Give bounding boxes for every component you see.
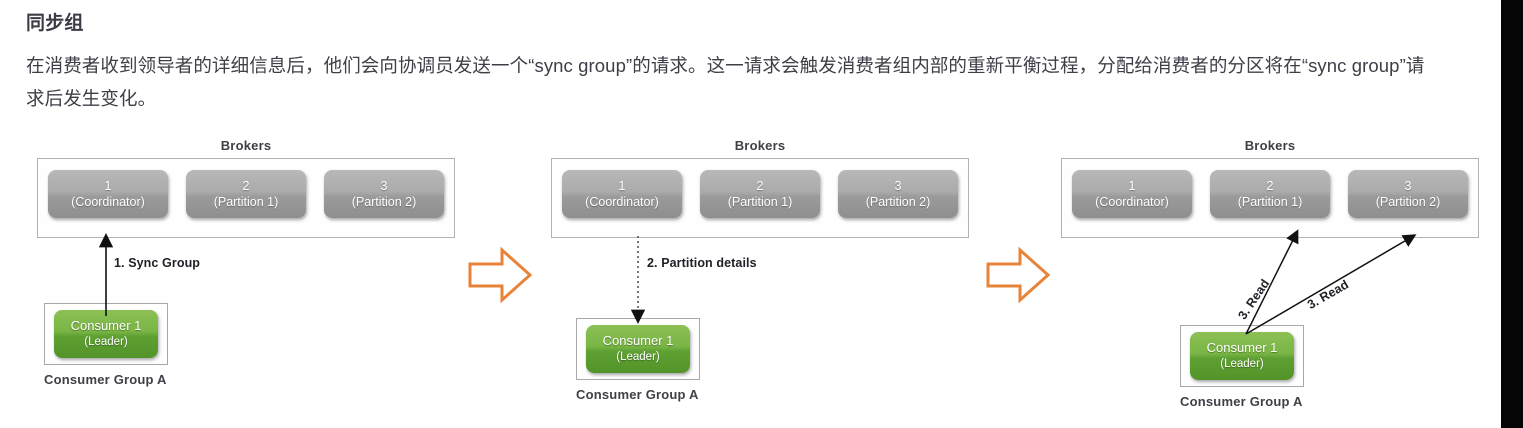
brokers-label: Brokers	[540, 138, 980, 153]
consumer-group-caption: Consumer Group A	[44, 372, 167, 387]
broker-role: (Partition 2)	[352, 194, 417, 210]
brokers-label: Brokers	[26, 138, 466, 153]
broker-role: (Partition 1)	[728, 194, 793, 210]
broker-node-3: 3 (Partition 2)	[324, 170, 444, 218]
right-arrow-icon	[986, 246, 1050, 304]
consumer-group-caption: Consumer Group A	[576, 387, 699, 402]
broker-id: 1	[1129, 178, 1136, 194]
consumer-role: (Leader)	[1220, 356, 1263, 372]
broker-id: 2	[243, 178, 250, 194]
consumer-node-1: Consumer 1 (Leader)	[1190, 332, 1294, 380]
diagram-panel-3: Brokers 1 (Coordinator) 2 (Partition 1) …	[1050, 138, 1490, 410]
broker-node-2: 2 (Partition 1)	[1210, 170, 1330, 218]
broker-node-1: 1 (Coordinator)	[562, 170, 682, 218]
brokers-container: 1 (Coordinator) 2 (Partition 1) 3 (Parti…	[37, 158, 455, 238]
consumer-role: (Leader)	[84, 334, 127, 350]
broker-row: 1 (Coordinator) 2 (Partition 1) 3 (Parti…	[1072, 170, 1468, 218]
article-content: 同步组 在消费者收到领导者的详细信息后，他们会向协调员发送一个“sync gro…	[26, 0, 1466, 115]
consumer-group-caption: Consumer Group A	[1180, 394, 1303, 409]
flow-label-read-2: 3. Read	[1305, 277, 1351, 312]
flow-label-read-1: 3. Read	[1235, 277, 1272, 322]
broker-role: (Coordinator)	[585, 194, 659, 210]
broker-id: 1	[619, 178, 626, 194]
flow-label-partition-details: 2. Partition details	[647, 256, 757, 270]
kafka-sync-group-diagram: Brokers 1 (Coordinator) 2 (Partition 1) …	[0, 138, 1500, 410]
brokers-container: 1 (Coordinator) 2 (Partition 1) 3 (Parti…	[1061, 158, 1479, 238]
broker-role: (Partition 1)	[214, 194, 279, 210]
broker-node-2: 2 (Partition 1)	[186, 170, 306, 218]
broker-id: 2	[757, 178, 764, 194]
broker-id: 3	[895, 178, 902, 194]
right-edge-strip	[1501, 0, 1523, 428]
right-arrow-icon	[468, 246, 532, 304]
brokers-container: 1 (Coordinator) 2 (Partition 1) 3 (Parti…	[551, 158, 969, 238]
consumer-name: Consumer 1	[71, 318, 142, 334]
broker-row: 1 (Coordinator) 2 (Partition 1) 3 (Parti…	[48, 170, 444, 218]
broker-node-3: 3 (Partition 2)	[1348, 170, 1468, 218]
broker-role: (Partition 2)	[866, 194, 931, 210]
consumer-name: Consumer 1	[603, 333, 674, 349]
broker-role: (Partition 1)	[1238, 194, 1303, 210]
broker-id: 2	[1267, 178, 1274, 194]
broker-id: 3	[1405, 178, 1412, 194]
consumer-node-1: Consumer 1 (Leader)	[586, 325, 690, 373]
broker-node-3: 3 (Partition 2)	[838, 170, 958, 218]
broker-id: 3	[381, 178, 388, 194]
broker-role: (Coordinator)	[71, 194, 145, 210]
diagram-panel-1: Brokers 1 (Coordinator) 2 (Partition 1) …	[26, 138, 466, 410]
broker-node-1: 1 (Coordinator)	[1072, 170, 1192, 218]
consumer-name: Consumer 1	[1207, 340, 1278, 356]
consumer-role: (Leader)	[616, 349, 659, 365]
diagram-panel-2: Brokers 1 (Coordinator) 2 (Partition 1) …	[540, 138, 980, 410]
broker-row: 1 (Coordinator) 2 (Partition 1) 3 (Parti…	[562, 170, 958, 218]
broker-role: (Partition 2)	[1376, 194, 1441, 210]
consumer-node-1: Consumer 1 (Leader)	[54, 310, 158, 358]
broker-role: (Coordinator)	[1095, 194, 1169, 210]
broker-node-1: 1 (Coordinator)	[48, 170, 168, 218]
page-title: 同步组	[26, 11, 1466, 37]
flow-label-sync-group: 1. Sync Group	[114, 256, 200, 270]
section-paragraph: 在消费者收到领导者的详细信息后，他们会向协调员发送一个“sync group”的…	[26, 49, 1436, 115]
broker-id: 1	[105, 178, 112, 194]
broker-node-2: 2 (Partition 1)	[700, 170, 820, 218]
brokers-label: Brokers	[1050, 138, 1490, 153]
